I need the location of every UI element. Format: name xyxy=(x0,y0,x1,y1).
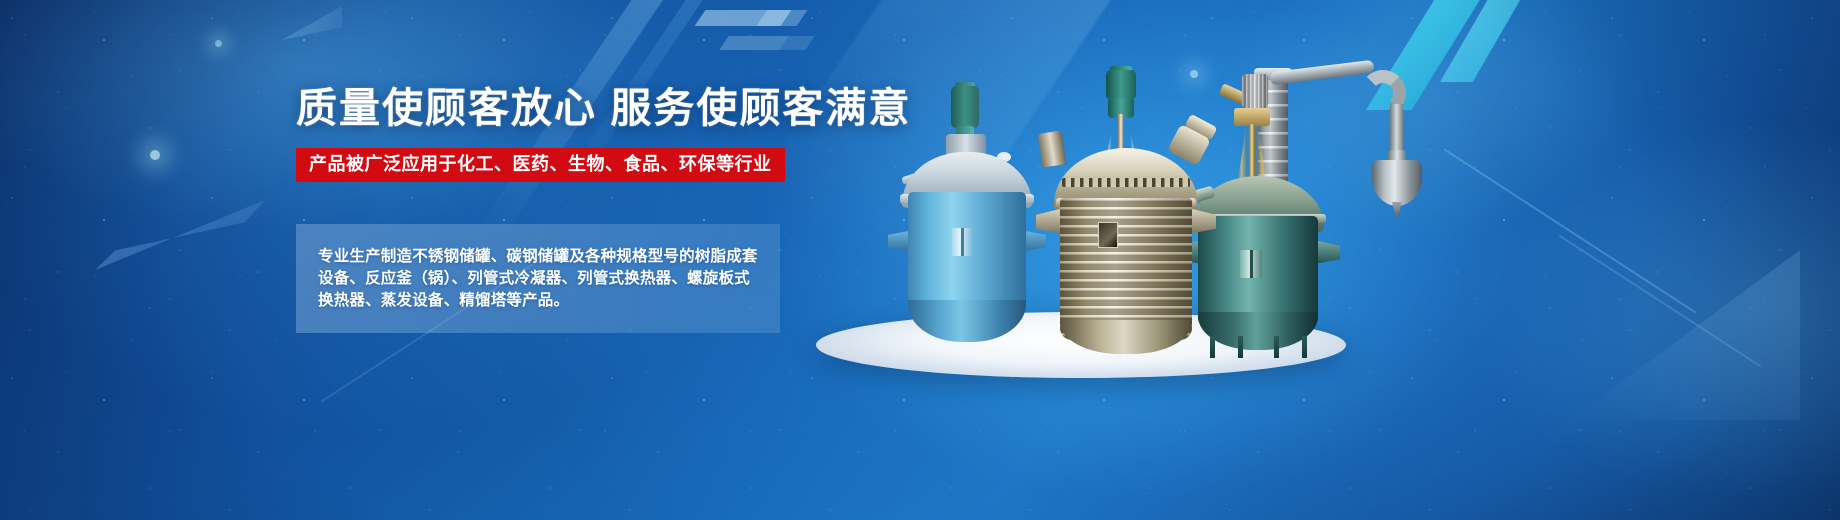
decorative-bar-2 xyxy=(757,10,808,26)
decorative-glow-2 xyxy=(215,40,222,47)
steel-reactor-coil-jacket xyxy=(1060,198,1192,340)
decorative-triangle-top-left xyxy=(282,6,342,40)
decorative-line-2 xyxy=(1559,235,1761,367)
decorative-line-1 xyxy=(1444,148,1697,313)
decorative-bar-1 xyxy=(695,10,792,26)
stainless-jacketed-reactor xyxy=(1026,70,1226,348)
green-reactor-agitator-shaft xyxy=(1249,124,1255,182)
blue-reactor-motor xyxy=(951,86,979,128)
decorative-triangle-right xyxy=(1570,250,1800,420)
banner-headline: 质量使顾客放心 服务使顾客满意 xyxy=(296,88,796,129)
description-panel: 专业生产制造不锈钢储罐、碳钢储罐及各种规格型号的树脂成套设备、反应釜（锅）、列管… xyxy=(296,224,780,333)
tagline-text: 产品被广泛应用于化工、医药、生物、食品、环保等行业 xyxy=(309,154,772,174)
green-reactor-motor-fins xyxy=(1242,74,1268,108)
blue-reactor xyxy=(886,82,1048,340)
steel-reactor-sight-glass xyxy=(1098,222,1118,248)
equipment-scene xyxy=(800,30,1440,390)
steel-reactor-bolt-ring xyxy=(1062,178,1190,187)
blue-reactor-bottom-head xyxy=(908,300,1026,342)
receiver-vessel xyxy=(1372,160,1422,206)
decorative-bar-3 xyxy=(719,36,788,50)
decorative-cyan-arrow-secondary xyxy=(1440,0,1526,82)
tagline-badge: 产品被广泛应用于化工、医药、生物、食品、环保等行业 xyxy=(296,148,785,182)
promo-banner: 质量使顾客放心 服务使顾客满意 产品被广泛应用于化工、医药、生物、食品、环保等行… xyxy=(0,0,1840,520)
blue-reactor-nameplate xyxy=(952,228,972,256)
green-reactor-nameplate xyxy=(1240,250,1262,278)
banner-copy: 质量使顾客放心 服务使顾客满意 产品被广泛应用于化工、医药、生物、食品、环保等行… xyxy=(296,88,796,333)
steel-reactor-lug-right xyxy=(1188,208,1216,234)
steel-reactor-motor xyxy=(1106,70,1136,100)
receiver-drain xyxy=(1392,202,1402,218)
description-text: 专业生产制造不锈钢储罐、碳钢储罐及各种规格型号的树脂成套设备、反应釜（锅）、列管… xyxy=(318,246,760,313)
overhead-pipe xyxy=(1270,60,1375,86)
decorative-triangle-left xyxy=(95,200,265,270)
decorative-glow-1 xyxy=(150,150,160,160)
